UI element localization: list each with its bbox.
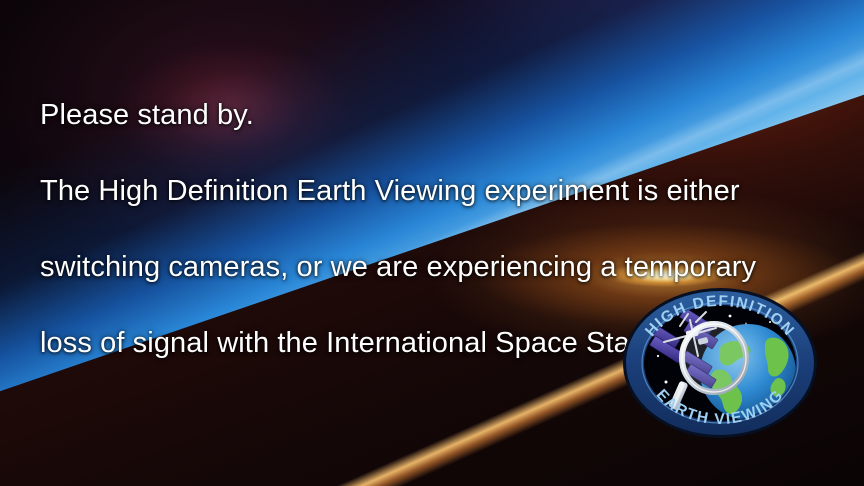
message-line-3: switching cameras, or we are experiencin…: [40, 248, 820, 286]
hdev-standby-screen: Please stand by. The High Definition Ear…: [0, 0, 864, 486]
hdev-mission-patch: HIGH DEFINITION EARTH VIEWING: [620, 286, 820, 440]
message-line-1: Please stand by.: [40, 96, 820, 134]
message-line-2: The High Definition Earth Viewing experi…: [40, 172, 820, 210]
